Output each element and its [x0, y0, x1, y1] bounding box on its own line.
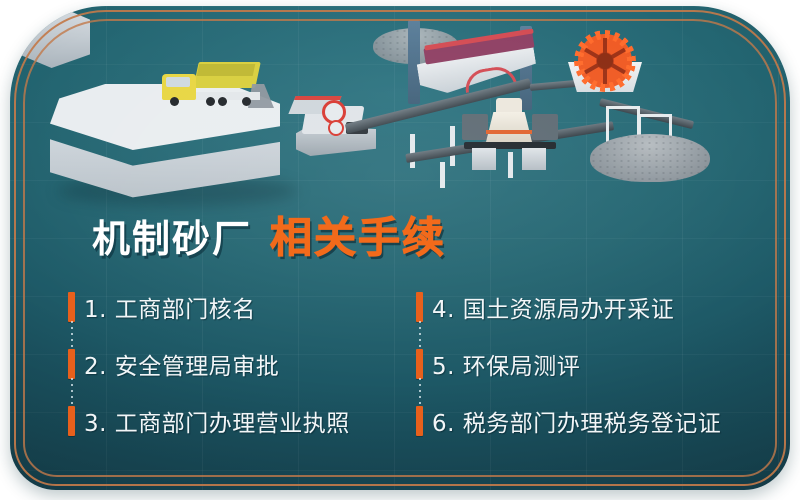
promo-banner: 机制砂厂 相关手续 1. 工商部门核名 2. 安全管理局审批 3. 工商部门办理 [10, 6, 790, 490]
bullet-marker-icon [416, 349, 423, 379]
list-item-label: 3. 工商部门办理营业执照 [84, 404, 350, 438]
bullet-marker-icon [416, 292, 423, 322]
list-item-label: 2. 安全管理局审批 [84, 347, 279, 381]
bullet-marker-icon [68, 292, 75, 322]
procedure-column-left: 1. 工商部门核名 2. 安全管理局审批 3. 工商部门办理营业执照 [68, 278, 416, 335]
bullet-marker-icon [416, 406, 423, 436]
title-accent-text: 相关手续 [270, 204, 446, 265]
procedure-column-right: 4. 国土资源局办开采证 5. 环保局测评 6. 税务部门办理税务登记证 [416, 278, 768, 335]
list-item[interactable]: 5. 环保局测评 [416, 335, 768, 392]
page-title: 机制砂厂 相关手续 [92, 204, 446, 265]
list-item[interactable]: 1. 工商部门核名 [68, 278, 416, 335]
list-item-label: 6. 税务部门办理税务登记证 [432, 404, 721, 438]
bullet-marker-icon [68, 349, 75, 379]
bullet-marker-icon [68, 406, 75, 436]
list-item[interactable]: 6. 税务部门办理税务登记证 [416, 392, 768, 449]
screenshot-root: 机制砂厂 相关手续 1. 工商部门核名 2. 安全管理局审批 3. 工商部门办理 [0, 0, 800, 500]
list-item-label: 4. 国土资源局办开采证 [432, 290, 674, 324]
list-item[interactable]: 3. 工商部门办理营业执照 [68, 392, 416, 449]
procedure-list: 1. 工商部门核名 2. 安全管理局审批 3. 工商部门办理营业执照 4. 国土… [68, 278, 768, 335]
list-item[interactable]: 4. 国土资源局办开采证 [416, 278, 768, 335]
list-item-label: 5. 环保局测评 [432, 347, 580, 381]
title-main-text: 机制砂厂 [92, 208, 252, 263]
list-item[interactable]: 2. 安全管理局审批 [68, 335, 416, 392]
list-item-label: 1. 工商部门核名 [84, 290, 256, 324]
